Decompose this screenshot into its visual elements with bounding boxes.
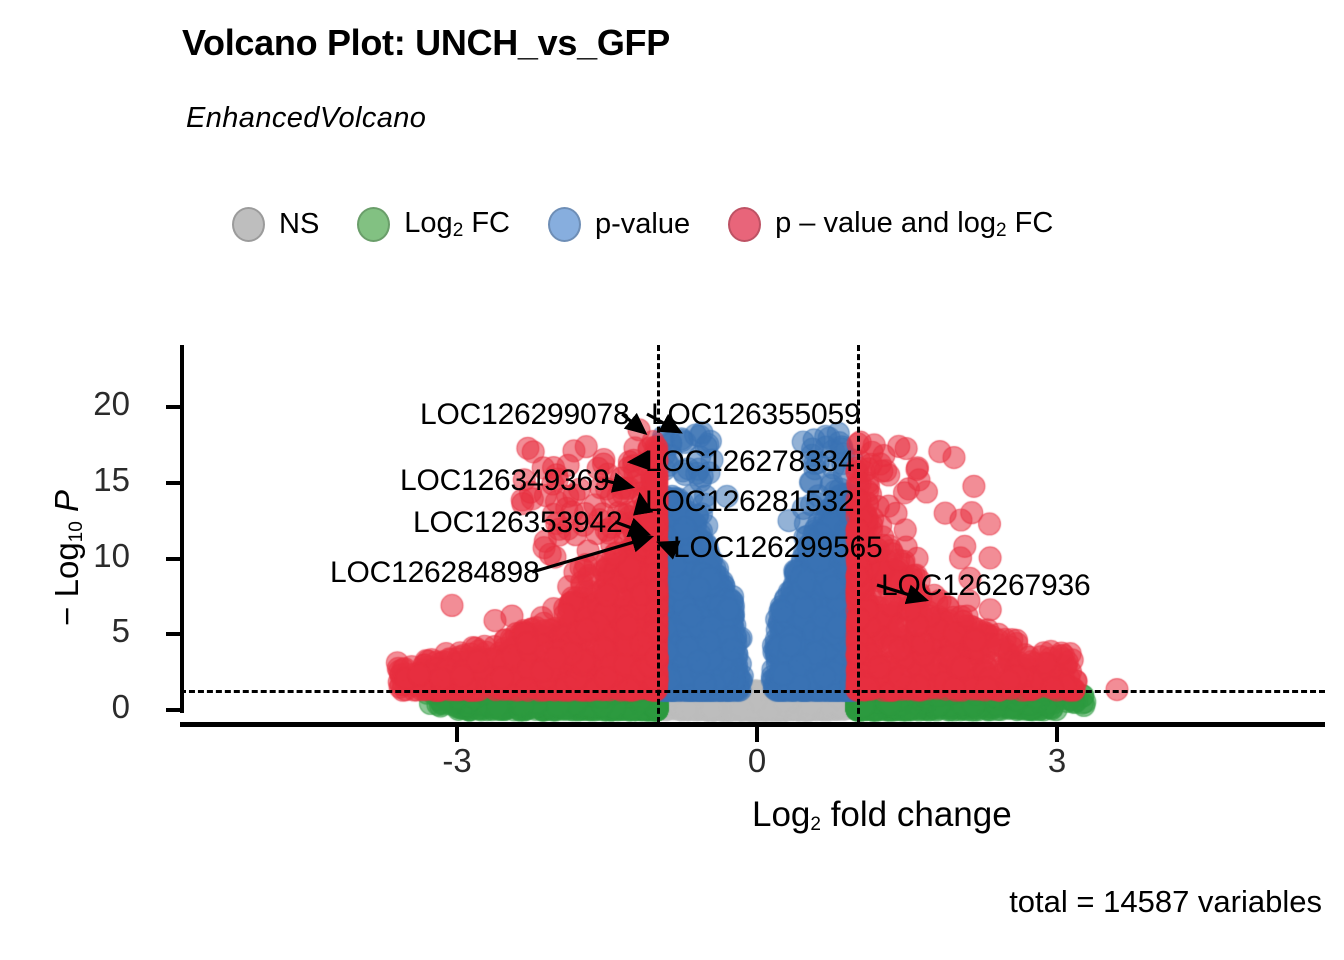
y-tick — [166, 557, 180, 561]
gene-label-loc126278334: LOC126278334 — [645, 447, 854, 477]
legend-pvalue-and-log2fc-swatch — [728, 207, 761, 242]
gene-label-loc126349369: LOC126349369 — [400, 466, 609, 496]
legend-pvalue[interactable]: p-value — [548, 207, 690, 242]
x-axis-label: Log2 fold change — [752, 795, 1012, 836]
x-tick — [1055, 727, 1059, 742]
y-tick — [166, 708, 180, 712]
x-tick — [455, 727, 459, 742]
x-tick — [755, 727, 759, 742]
x-tick-label: 0 — [748, 742, 766, 780]
legend-pvalue-label: p-value — [595, 210, 690, 239]
y-tick-label: 5 — [112, 612, 130, 650]
gene-label-loc126281532: LOC126281532 — [645, 487, 854, 517]
x-tick-label: 3 — [1048, 742, 1066, 780]
legend-log2fc-label: Log2 FC — [404, 209, 510, 240]
legend-log2fc[interactable]: Log2 FC — [357, 207, 510, 242]
gene-label-loc126267936: LOC126267936 — [881, 571, 1090, 601]
legend-ns-swatch — [232, 207, 265, 242]
page-title: Volcano Plot: UNCH_vs_GFP — [182, 22, 670, 64]
gene-label-loc126355059: LOC126355059 — [651, 400, 860, 430]
y-tick-label: 15 — [93, 461, 130, 499]
plot-area: 05101520-303 − Log10 P Log2 fold change — [180, 340, 1325, 720]
legend-ns-label: NS — [279, 210, 319, 239]
legend: NSLog2 FCp-valuep – value and log2 FC — [232, 200, 1053, 248]
gene-label-loc126353942: LOC126353942 — [413, 508, 622, 538]
legend-pvalue-swatch — [548, 207, 581, 242]
total-variables-caption: total = 14587 variables — [1009, 884, 1322, 920]
y-tick-label: 20 — [93, 385, 130, 423]
y-tick-label: 0 — [112, 688, 130, 726]
gene-label-loc126299565: LOC126299565 — [673, 533, 882, 563]
legend-ns[interactable]: NS — [232, 207, 319, 242]
gene-label-loc126284898: LOC126284898 — [330, 558, 539, 588]
y-tick — [166, 632, 180, 636]
legend-pvalue-and-log2fc[interactable]: p – value and log2 FC — [728, 207, 1053, 242]
page-subtitle: EnhancedVolcano — [186, 102, 426, 135]
y-tick-label: 10 — [93, 537, 130, 575]
x-tick-label: -3 — [442, 742, 471, 780]
pvalue-threshold-line — [180, 690, 1325, 693]
legend-pvalue-and-log2fc-label: p – value and log2 FC — [775, 209, 1053, 240]
y-axis-label: − Log10 P — [48, 490, 88, 626]
legend-log2fc-swatch — [357, 207, 390, 242]
volcano-plot-figure: Volcano Plot: UNCH_vs_GFP EnhancedVolcan… — [0, 0, 1344, 960]
y-tick — [166, 481, 180, 485]
y-axis-line — [180, 345, 184, 713]
y-tick — [166, 405, 180, 409]
x-axis-line — [180, 722, 1325, 727]
gene-label-loc126299078: LOC126299078 — [420, 400, 629, 430]
